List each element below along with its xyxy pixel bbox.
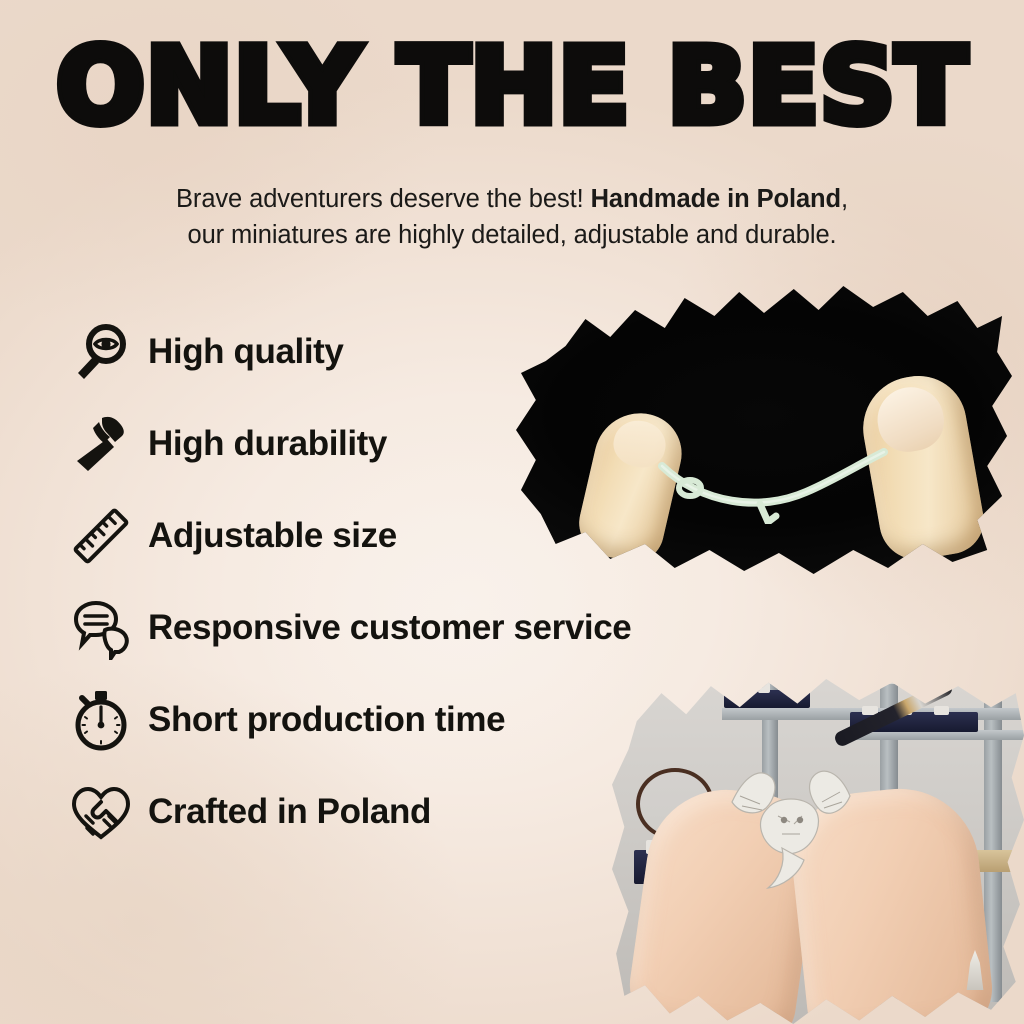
subtitle-highlight: Handmade in Poland	[591, 185, 841, 213]
magnifier-eye-icon	[62, 313, 140, 391]
speech-bubbles-icon	[62, 589, 140, 667]
feature-label: Responsive customer service	[148, 608, 631, 648]
feature-label: High durability	[148, 424, 387, 464]
feature-item-crafted-in-poland: Crafted in Poland	[62, 766, 762, 858]
subtitle-tail: ,	[841, 185, 848, 213]
heart-handshake-icon	[62, 773, 140, 851]
feature-label: Adjustable size	[148, 516, 397, 556]
subtitle: Brave adventurers deserve the best! Hand…	[82, 181, 942, 253]
feature-item-adjustable-size: Adjustable size	[62, 490, 762, 582]
page-title: ONLY THE BEST	[0, 34, 1024, 138]
feature-list: High quality High durability	[62, 306, 762, 858]
fingernail	[872, 382, 948, 456]
stopwatch-icon	[62, 681, 140, 759]
subtitle-line2: our miniatures are highly detailed, adju…	[187, 221, 836, 249]
feature-label: High quality	[148, 332, 343, 372]
hammer-icon	[62, 405, 140, 483]
promo-poster: ONLY THE BEST Brave adventurers deserve …	[0, 0, 1024, 1024]
feature-label: Short production time	[148, 700, 505, 740]
feature-item-responsive-customer-service: Responsive customer service	[62, 582, 762, 674]
feature-item-short-production-time: Short production time	[62, 674, 762, 766]
feature-item-high-quality: High quality	[62, 306, 762, 398]
subtitle-lead: Brave adventurers deserve the best!	[176, 185, 591, 213]
feature-item-high-durability: High durability	[62, 398, 762, 490]
feature-label: Crafted in Poland	[148, 792, 431, 832]
ruler-icon	[62, 497, 140, 575]
